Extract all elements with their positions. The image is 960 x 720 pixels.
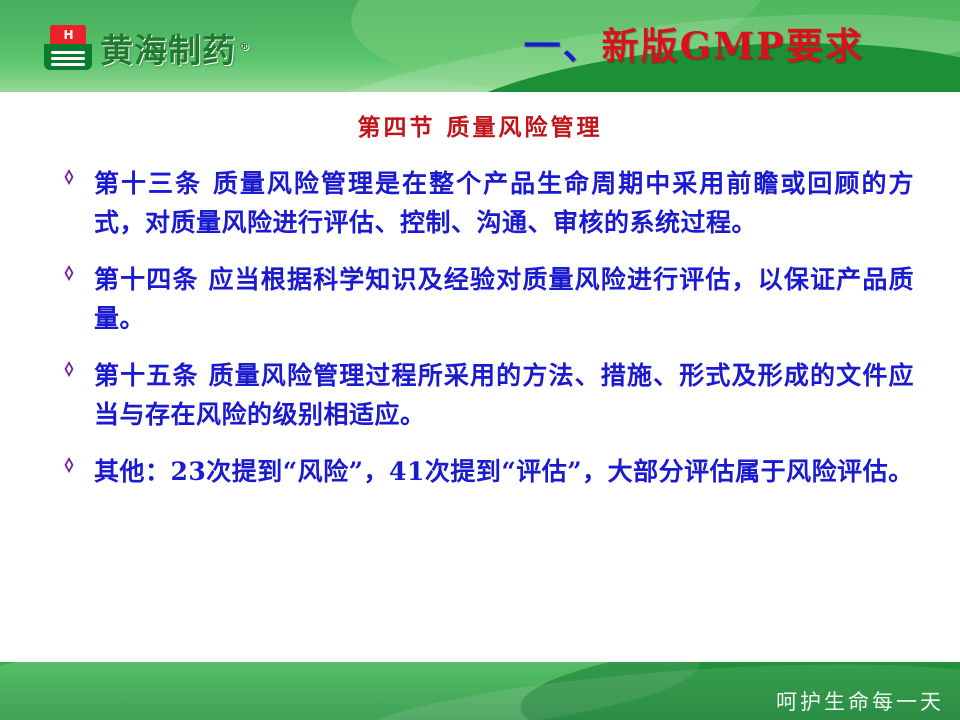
diamond-bullet-icon xyxy=(60,264,80,284)
company-logo: H 黄海制药® xyxy=(44,22,251,74)
header-title: 一、新版GMP要求 xyxy=(524,16,864,70)
slide: H 黄海制药® 一、新版GMP要求 第四节 质量风险管理 第十三条 质量风险管理… xyxy=(0,0,960,720)
brand-name-text: 黄海制药 xyxy=(100,31,236,70)
list-item: 第十三条 质量风险管理是在整个产品生命周期中采用前瞻或回顾的方式，对质量风险进行… xyxy=(58,164,914,242)
diamond-bullet-icon xyxy=(60,168,80,188)
footer-slogan: 呵护生命每一天 xyxy=(776,686,944,716)
bullet-list: 第十三条 质量风险管理是在整个产品生命周期中采用前瞻或回顾的方式，对质量风险进行… xyxy=(0,164,960,491)
list-item-text: 第十五条 质量风险管理过程所采用的方法、措施、形式及形成的文件应当与存在风险的级… xyxy=(94,361,914,429)
diamond-bullet-icon xyxy=(60,456,80,476)
diamond-bullet-icon xyxy=(60,360,80,380)
logo-mark-letter: H xyxy=(50,25,86,45)
list-item: 其他：23次提到“风险”，41次提到“评估”，大部分评估属于风险评估。 xyxy=(58,452,914,491)
brand-name: 黄海制药® xyxy=(100,24,251,72)
registered-mark: ® xyxy=(239,40,251,53)
list-item: 第十五条 质量风险管理过程所采用的方法、措施、形式及形成的文件应当与存在风险的级… xyxy=(58,356,914,434)
list-item: 第十四条 应当根据科学知识及经验对质量风险进行评估，以保证产品质量。 xyxy=(58,260,914,338)
logo-mark-icon: H xyxy=(44,25,92,71)
slide-body: 第四节 质量风险管理 第十三条 质量风险管理是在整个产品生命周期中采用前瞻或回顾… xyxy=(0,92,960,662)
header-title-prefix: 一、 xyxy=(524,24,602,68)
list-item-text: 第十三条 质量风险管理是在整个产品生命周期中采用前瞻或回顾的方式，对质量风险进行… xyxy=(94,169,914,237)
list-item-text: 其他：23次提到“风险”，41次提到“评估”，大部分评估属于风险评估。 xyxy=(94,457,914,486)
header-title-main: 新版GMP要求 xyxy=(602,24,864,68)
section-title: 第四节 质量风险管理 xyxy=(0,108,960,142)
list-item-text: 第十四条 应当根据科学知识及经验对质量风险进行评估，以保证产品质量。 xyxy=(94,265,914,333)
logo-mark-base xyxy=(44,44,92,70)
slide-footer: 呵护生命每一天 xyxy=(0,662,960,720)
